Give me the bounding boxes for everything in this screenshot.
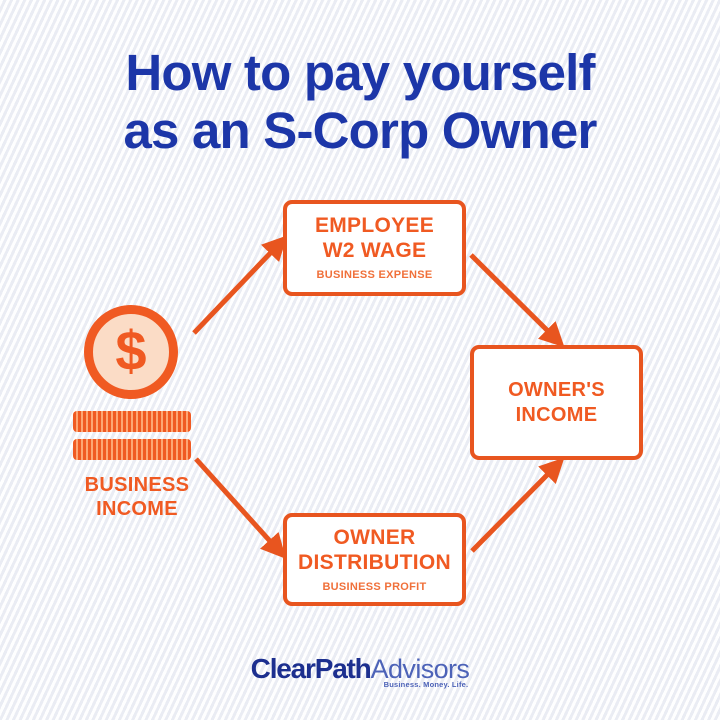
logo-name-bold: ClearPath bbox=[251, 653, 371, 684]
box-owner-distribution[interactable]: OWNER DISTRIBUTION BUSINESS PROFIT bbox=[283, 513, 466, 606]
box-employee-w2-wage[interactable]: EMPLOYEE W2 WAGE BUSINESS EXPENSE bbox=[283, 200, 466, 296]
logo-wordmark: ClearPathAdvisors Business. Money. Life. bbox=[251, 653, 470, 685]
box-owners-income[interactable]: OWNER'S INCOME bbox=[470, 345, 643, 460]
logo-tagline: Business. Money. Life. bbox=[384, 680, 469, 689]
dollar-sign-glyph: $ bbox=[115, 323, 146, 379]
box-employee-w2-wage-title: EMPLOYEE W2 WAGE bbox=[315, 213, 434, 263]
arrow-owner-distribution-to-owners-income bbox=[472, 466, 556, 551]
box-owners-income-title: OWNER'S INCOME bbox=[508, 378, 605, 428]
title-line-2: as an S-Corp Owner bbox=[0, 102, 720, 160]
infographic-canvas: How to pay yourself as an S-Corp Owner $… bbox=[0, 0, 720, 720]
dollar-coin-icon: $ bbox=[84, 305, 178, 399]
arrow-employee-wage-to-owners-income bbox=[471, 255, 556, 339]
box-owner-distribution-subtitle: BUSINESS PROFIT bbox=[322, 580, 426, 595]
business-income-group: $ BUSINESS INCOME bbox=[62, 305, 212, 535]
coin-stack-bar-bottom bbox=[73, 439, 191, 460]
coin-stack-bar-top bbox=[73, 411, 191, 432]
business-income-label: BUSINESS INCOME bbox=[62, 473, 212, 521]
title-line-1: How to pay yourself bbox=[0, 44, 720, 102]
box-employee-w2-wage-subtitle: BUSINESS EXPENSE bbox=[316, 268, 432, 283]
box-owner-distribution-title: OWNER DISTRIBUTION bbox=[298, 525, 451, 575]
page-title: How to pay yourself as an S-Corp Owner bbox=[0, 44, 720, 160]
brand-logo: ClearPathAdvisors Business. Money. Life. bbox=[0, 653, 720, 685]
